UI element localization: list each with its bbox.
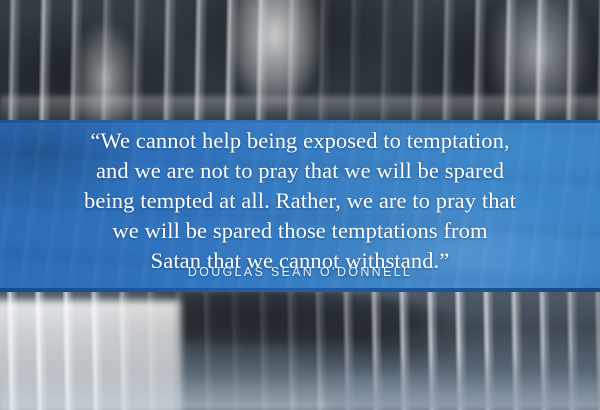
quote-line: being tempted at all. Rather, we are to …	[0, 186, 600, 216]
quote-attribution: DOUGLAS SEAN O’DONNELL	[0, 265, 600, 279]
banner-bottom-edge	[0, 288, 600, 292]
quote-line: and we are not to pray that we will be s…	[0, 156, 600, 186]
bottom-spray-mist	[0, 370, 600, 410]
quote-text-block: “We cannot help being exposed to temptat…	[0, 126, 600, 276]
quote-line: we will be spared those temptations from	[0, 216, 600, 246]
quote-line: “We cannot help being exposed to temptat…	[0, 126, 600, 156]
quote-banner: “We cannot help being exposed to temptat…	[0, 120, 600, 292]
quote-card: “We cannot help being exposed to temptat…	[0, 0, 600, 410]
banner-top-edge	[0, 120, 600, 123]
